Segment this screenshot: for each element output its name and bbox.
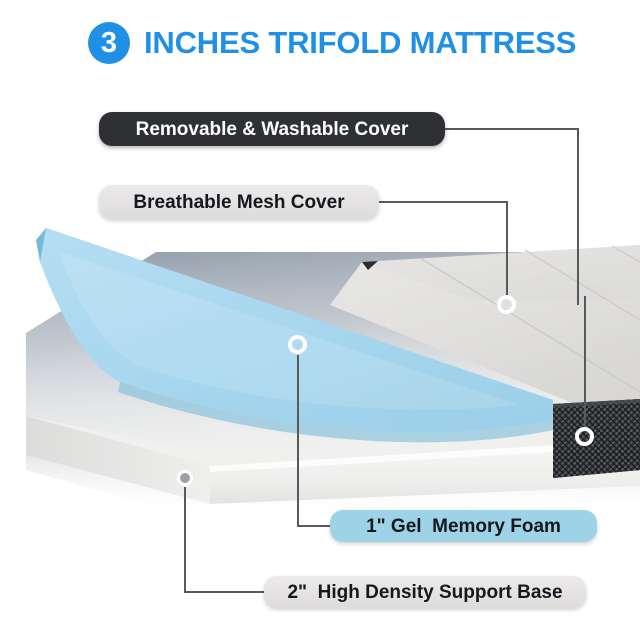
label-mesh-text: Breathable Mesh Cover [99,193,379,212]
mattress-infographic: 3 INCHES TRIFOLD MATTRESS [0,0,640,640]
label-gel-text: 1" Gel Memory Foam [330,517,597,536]
marker-mesh-cover [575,427,594,446]
marker-gel-foam [288,335,307,354]
label-high-density-support-base: 2" High Density Support Base [264,576,586,608]
callout-leader-lines [0,0,640,640]
marker-support-base [177,470,193,486]
label-base-text: 2" High Density Support Base [264,583,586,602]
label-removable-text: Removable & Washable Cover [99,120,445,139]
label-removable-washable-cover: Removable & Washable Cover [99,112,445,146]
label-gel-memory-foam: 1" Gel Memory Foam [330,510,597,542]
marker-removable-cover [497,295,516,314]
label-breathable-mesh-cover: Breathable Mesh Cover [99,185,379,219]
